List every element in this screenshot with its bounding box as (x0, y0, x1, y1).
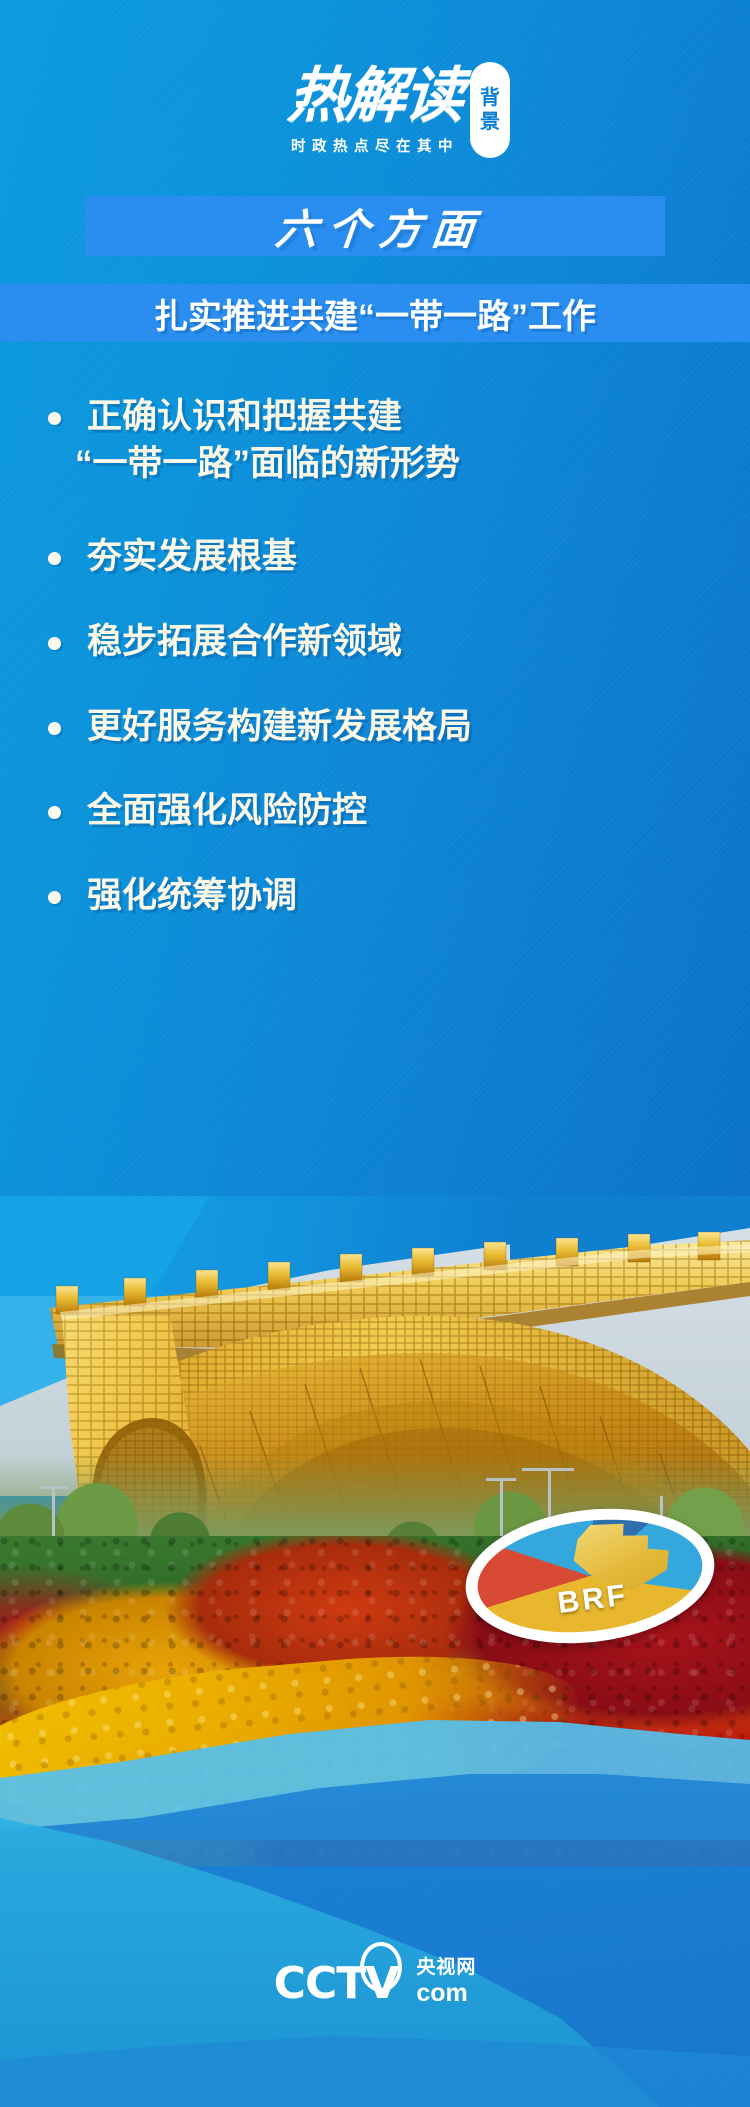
headline-primary-text: 六个方面 (263, 196, 487, 257)
bullet-list: 正确认识和把握共建 “一带一路”面临的新形势 夯实发展根基 稳步拓展合作新领域 … (0, 342, 750, 920)
list-item-text: 强化统筹协调 (87, 873, 297, 920)
cctv-logo-right: 央视网 com (416, 1958, 476, 2006)
cctv-domain-suffix: com (416, 1981, 467, 2006)
cctv-chinese-name: 央视网 (416, 1958, 476, 1977)
bullet-dot-icon (48, 891, 61, 904)
bullet-dot-icon (48, 412, 61, 425)
brand-title: 热解读 (286, 66, 464, 126)
list-item-text: 更好服务构建新发展格局 (87, 704, 472, 751)
list-item: 夯实发展根基 (36, 534, 716, 581)
footer-logo: CCTV 央视网 com (0, 1958, 750, 2006)
brand-subtitle: 时政热点尽在其中 (288, 135, 462, 156)
list-item-text: 夯实发展根基 (87, 534, 297, 581)
bullet-dot-icon (48, 806, 61, 819)
street-lamp-arm (486, 1478, 516, 1481)
title-section: 六个方面 扎实推进共建“一带一路”工作 (0, 196, 750, 342)
list-item: 全面强化风险防控 (36, 788, 716, 835)
poster-root: 热解读 时政热点尽在其中 背 景 六个方面 扎实推进共建“一带一路”工作 正确认… (0, 0, 750, 2107)
street-lamp-pole (52, 1486, 55, 1538)
cctv-oval-icon (360, 1942, 402, 1992)
street-lamp-arm (522, 1468, 574, 1471)
list-item: 稳步拓展合作新领域 (36, 619, 716, 666)
headline-banner-primary: 六个方面 (85, 196, 665, 256)
headline-banner-secondary: 扎实推进共建“一带一路”工作 (0, 284, 750, 342)
brf-emblem-label: BRF (479, 1569, 707, 1630)
list-item: 更好服务构建新发展格局 (36, 704, 716, 751)
category-badge: 背 景 (470, 62, 510, 158)
list-item-line2: “一带一路”面临的新形势 (75, 441, 460, 488)
list-item-text: 正确认识和把握共建 “一带一路”面临的新形势 (87, 394, 460, 488)
headline-secondary-text: 扎实推进共建“一带一路”工作 (154, 289, 596, 338)
category-badge-char-1: 背 (480, 88, 500, 109)
list-item: 强化统筹协调 (36, 873, 716, 920)
category-badge-char-2: 景 (480, 112, 500, 133)
street-lamp-arm (40, 1486, 68, 1489)
header: 热解读 时政热点尽在其中 背 景 (0, 0, 750, 196)
list-item-line1: 正确认识和把握共建 (87, 397, 402, 436)
footer-wave-decoration (0, 1700, 750, 2107)
brand-logo-block: 热解读 时政热点尽在其中 背 景 (288, 66, 462, 156)
list-item-text: 稳步拓展合作新领域 (87, 619, 402, 666)
bullet-dot-icon (48, 637, 61, 650)
bullet-dot-icon (48, 722, 61, 735)
bullet-dot-icon (48, 552, 61, 565)
cctv-logo-group: CCTV 央视网 com (274, 1958, 477, 2006)
list-item-text: 全面强化风险防控 (87, 788, 367, 835)
list-item: 正确认识和把握共建 “一带一路”面临的新形势 (36, 394, 716, 488)
brand-logo: 热解读 时政热点尽在其中 背 景 (0, 66, 750, 156)
